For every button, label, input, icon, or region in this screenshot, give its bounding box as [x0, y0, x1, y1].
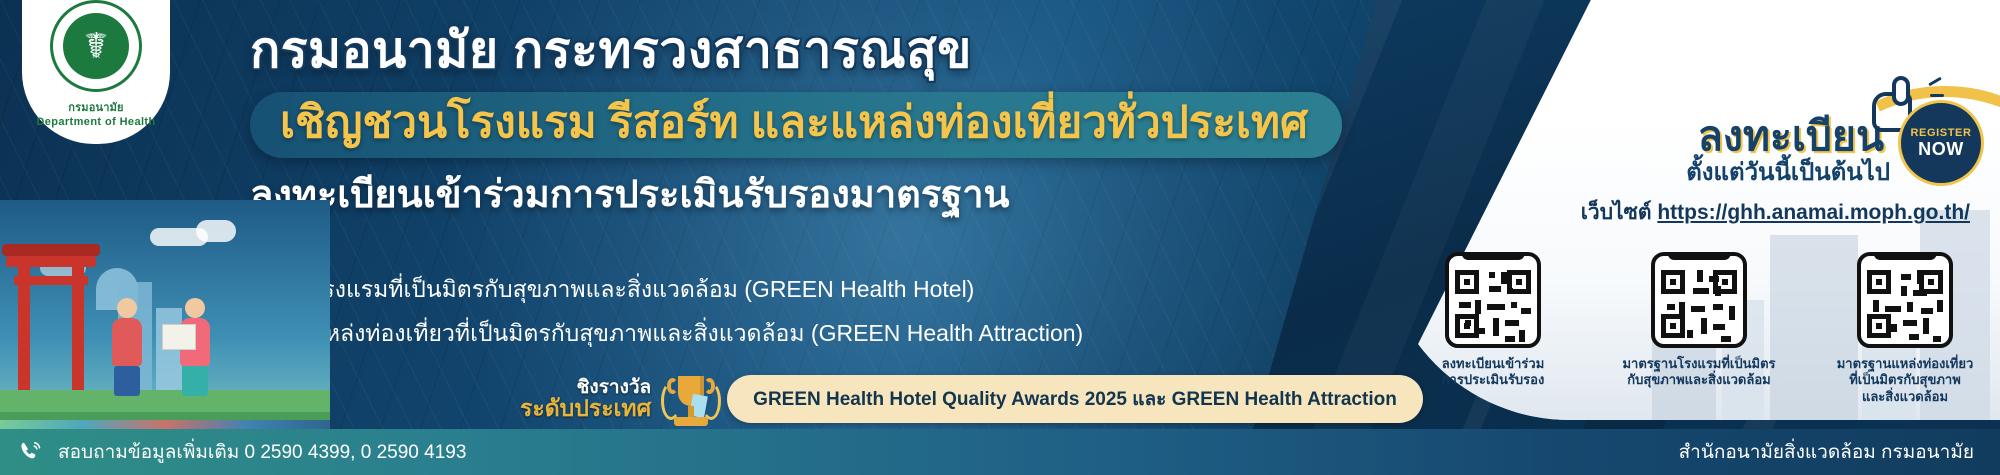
- landmark-tower-2: [156, 308, 182, 394]
- footer-org-text: สำนักอนามัยสิ่งแวดล้อม กรมอนามัย: [1679, 437, 1974, 467]
- footer-contact-text: สอบถามข้อมูลเพิ่มเติม 0 2590 4399, 0 259…: [58, 437, 466, 467]
- register-subtitle: ตั้งแต่วันนี้เป็นต้นไป: [1686, 152, 1890, 191]
- qr-caption: มาตรฐานแหล่งท่องเที่ยว ที่เป็นมิตรกับสุข…: [1820, 356, 1990, 405]
- website-label: เว็บไซต์: [1581, 201, 1652, 224]
- awards-pill-label: GREEN Health Hotel Quality Awards 2025 แ…: [753, 384, 1397, 414]
- headline-block: กรมอนามัย กระทรวงสาธารณสุข เชิญชวนโรงแรม…: [250, 22, 1430, 217]
- qr-item-attraction-standard[interactable]: SCAN ME: [1820, 252, 1990, 405]
- qr-code-icon[interactable]: SCAN ME: [1445, 252, 1541, 348]
- qr-code-row: SCAN ME: [1408, 252, 1990, 405]
- qr-code-icon[interactable]: SCAN ME: [1651, 252, 1747, 348]
- traveler-figure-1: [112, 298, 142, 396]
- caduceus-seal-icon: ☤: [50, 0, 142, 92]
- awards-label: ชิงรางวัล ระดับประเทศ: [520, 378, 651, 420]
- department-logo: ☤ กรมอนามัย Department of Health: [22, 0, 170, 144]
- register-panel: ลงทะเบียน ตั้งแต่วันนี้เป็นต้นไป REGISTE…: [1380, 0, 2000, 420]
- travel-illustration: [0, 200, 330, 430]
- qr-caption: ลงทะเบียนเข้าร่วม การประเมินรับรอง: [1408, 356, 1578, 389]
- phone-ringing-icon: [18, 439, 44, 465]
- promotional-banner: ☤ กรมอนามัย Department of Health กรมอนาม…: [0, 0, 2000, 475]
- traveler-figure-2: [180, 298, 210, 396]
- list-item: แหล่งท่องเที่ยวที่เป็นมิตรกับสุขภาพและสิ…: [268, 316, 1083, 352]
- list-item: โรงแรมที่เป็นมิตรกับสุขภาพและสิ่งแวดล้อม…: [268, 272, 1083, 308]
- register-now-line-1: REGISTER: [1910, 127, 1971, 139]
- qr-code-icon[interactable]: SCAN ME: [1857, 252, 1953, 348]
- scan-me-label: SCAN ME: [1668, 252, 1731, 260]
- website-url[interactable]: https://ghh.anamai.moph.go.th/: [1657, 201, 1970, 224]
- torii-gate-icon: [8, 244, 94, 394]
- scan-me-label: SCAN ME: [1462, 252, 1525, 260]
- headline-line-2: เชิญชวนโรงแรม รีสอร์ท และแหล่งท่องเที่ยว…: [280, 99, 1308, 147]
- checklist: โรงแรมที่เป็นมิตรกับสุขภาพและสิ่งแวดล้อม…: [268, 272, 1083, 360]
- checklist-item-label: โรงแรมที่เป็นมิตรกับสุขภาพและสิ่งแวดล้อม…: [310, 272, 974, 308]
- awards-strip: ชิงรางวัล ระดับประเทศ GREEN Health Hotel…: [520, 370, 1423, 428]
- headline-pill: เชิญชวนโรงแรม รีสอร์ท และแหล่งท่องเที่ยว…: [250, 92, 1342, 158]
- qr-caption: มาตรฐานโรงแรมที่เป็นมิตร กับสุขภาพและสิ่…: [1614, 356, 1784, 389]
- checklist-item-label: แหล่งท่องเที่ยวที่เป็นมิตรกับสุขภาพและสิ…: [310, 316, 1083, 352]
- register-now-badge[interactable]: REGISTER NOW: [1898, 100, 1984, 186]
- trophy-icon: [661, 370, 721, 428]
- register-now-line-2: NOW: [1918, 139, 1964, 160]
- website-line[interactable]: เว็บไซต์ https://ghh.anamai.moph.go.th/: [1581, 196, 1970, 229]
- awards-pill: GREEN Health Hotel Quality Awards 2025 แ…: [727, 375, 1423, 423]
- logo-thai-name: กรมอนามัย: [68, 98, 123, 116]
- headline-line-1: กรมอนามัย กระทรวงสาธารณสุข: [250, 22, 1430, 78]
- color-strip: [0, 420, 330, 429]
- logo-english-name: Department of Health: [36, 116, 155, 128]
- footer-contact: สอบถามข้อมูลเพิ่มเติม 0 2590 4399, 0 259…: [18, 437, 466, 467]
- qr-item-hotel-standard[interactable]: SCAN ME: [1614, 252, 1784, 405]
- qr-item-registration[interactable]: SCAN ME: [1408, 252, 1578, 405]
- headline-line-3: ลงทะเบียนเข้าร่วมการประเมินรับรองมาตรฐาน: [250, 174, 1430, 217]
- footer-bar: สอบถามข้อมูลเพิ่มเติม 0 2590 4399, 0 259…: [0, 429, 2000, 475]
- awards-label-line-2: ระดับประเทศ: [520, 397, 651, 420]
- scan-me-label: SCAN ME: [1874, 252, 1937, 260]
